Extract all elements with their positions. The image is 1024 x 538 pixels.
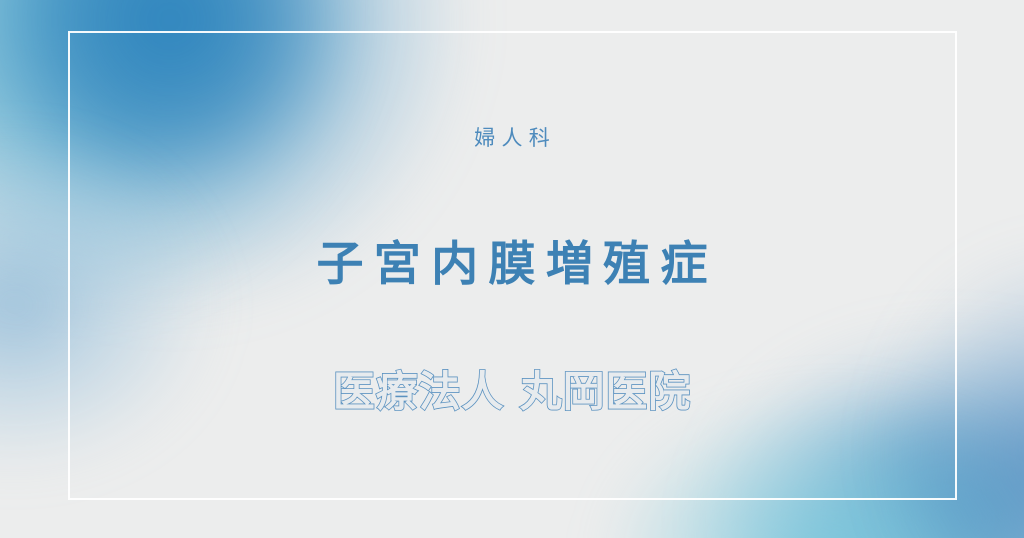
clinic-name: 医療法人 丸岡医院 (0, 366, 1024, 419)
slide-content: 婦人科 子宮内膜増殖症 医療法人 丸岡医院 (0, 0, 1024, 538)
title-slide: 婦人科 子宮内膜増殖症 医療法人 丸岡医院 (0, 0, 1024, 538)
department-label: 婦人科 (0, 126, 1024, 151)
page-title: 子宮内膜増殖症 (0, 236, 1024, 295)
